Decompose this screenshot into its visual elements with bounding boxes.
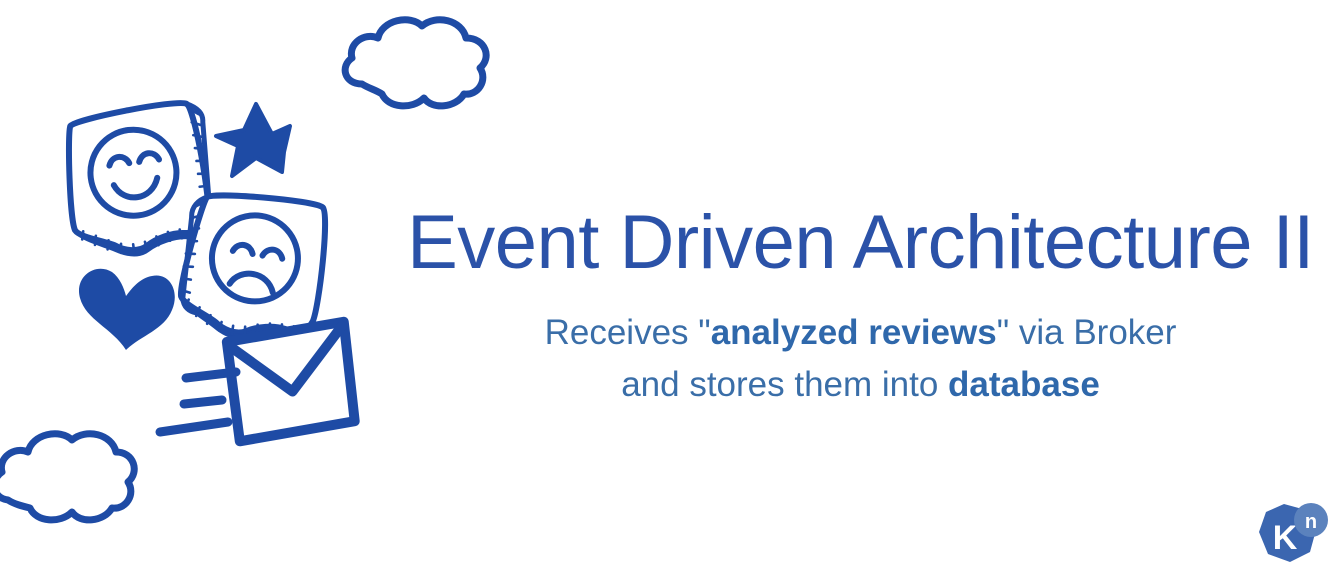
subtitle-line-1-emphasis: analyzed reviews [711,313,997,352]
star-icon [216,104,290,176]
subtitle: Receives "analyzed reviews" via Broker a… [380,307,1341,411]
subtitle-line-2-emphasis: database [948,365,1100,404]
subtitle-line-2-prefix: and stores them into [621,365,948,404]
speed-lines-icon [160,372,236,432]
page-title: Event Driven Architecture II [380,205,1341,281]
card-sad-icon [174,185,333,348]
subtitle-line-1: Receives "analyzed reviews" via Broker [380,307,1341,359]
logo-badge-letter: n [1305,511,1317,533]
cloud-top-icon [345,20,486,106]
card-happy-icon [60,100,218,261]
subtitle-line-2: and stores them into database [380,359,1341,411]
subtitle-line-1-suffix: " via Broker [997,313,1177,352]
subtitle-line-1-prefix: Receives " [545,313,711,352]
logo-mark-letter: K [1273,519,1298,557]
envelope-icon [226,321,356,441]
text-block: Event Driven Architecture II Receives "a… [380,205,1341,411]
cloud-bottom-left-icon [0,434,134,520]
slide-canvas: Event Driven Architecture II Receives "a… [0,0,1341,585]
brand-logo: K n [1254,500,1330,572]
heart-icon [79,269,175,350]
